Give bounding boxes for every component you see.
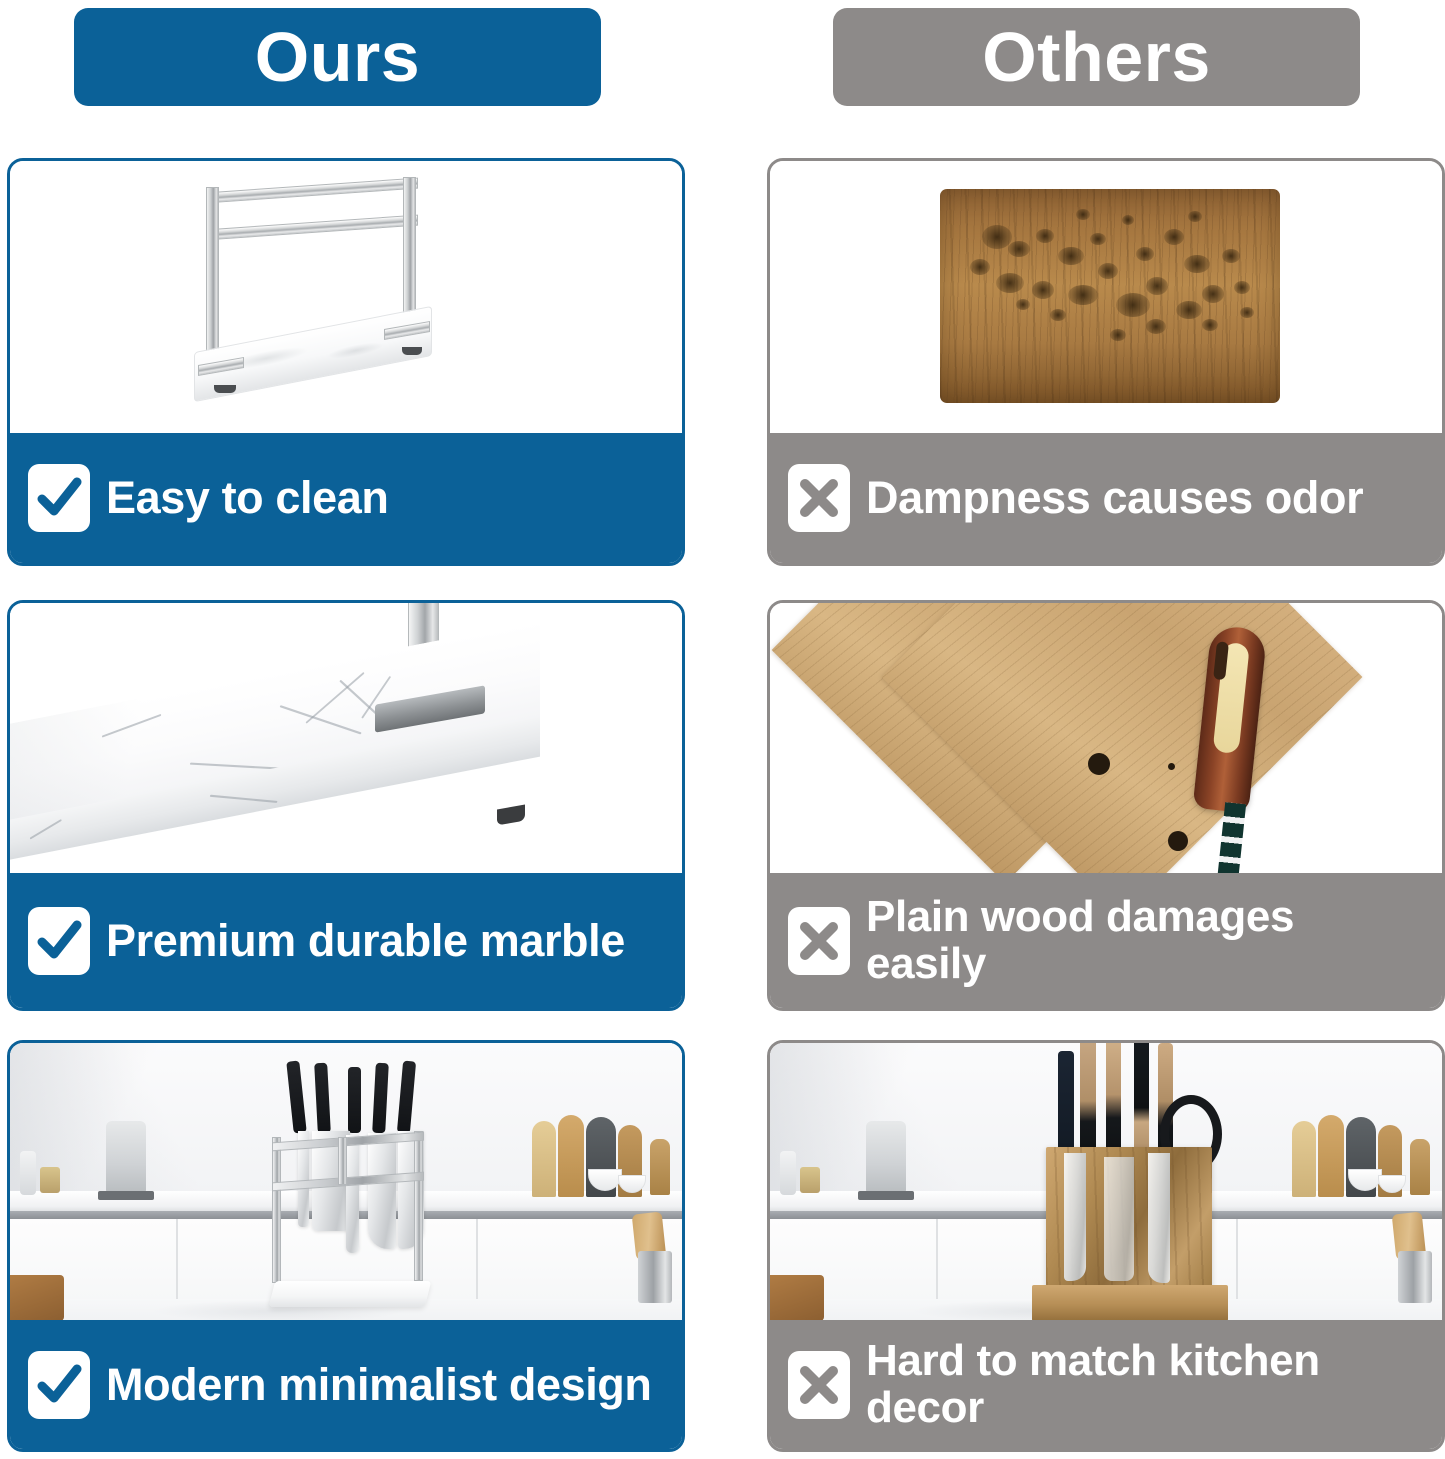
card-others-hard-to-match: Hard to match kitchen decor [767,1040,1445,1452]
wood-knife-block [1032,1147,1232,1320]
caption-text: Modern minimalist design [106,1361,651,1409]
card-others-wood-damages: Plain wood damages easily [767,600,1445,1011]
card-ours-premium-marble: Premium durable marble [7,600,685,1011]
knife-stand-in-kitchen [268,1061,458,1320]
wood-block-base [1032,1285,1228,1320]
check-icon [28,464,90,532]
card-ours-modern-design: Modern minimalist design [7,1040,685,1452]
marble-slab-illustration [10,603,682,873]
photo-moldy-cutting-board [770,161,1442,433]
cross-icon [788,464,850,532]
card-ours-easy-to-clean: Easy to clean [7,158,685,566]
caption-text: Dampness causes odor [866,474,1363,522]
rubber-foot [497,805,525,826]
caption-text: Hard to match kitchen decor [866,1338,1320,1431]
caption-text: Easy to clean [106,474,388,522]
column-ours: Easy to clean [7,0,707,1459]
card-others-dampness-odor: Dampness causes odor [767,158,1445,566]
check-icon [28,1351,90,1419]
caption-text: Plain wood damages easily [866,894,1294,987]
caption-ours-3: Modern minimalist design [10,1320,682,1449]
kitchen-scene-ours [10,1043,682,1320]
wood-boards-illustration [770,603,1442,873]
photo-knife-holder [10,161,682,433]
photo-kitchen-others [770,1043,1442,1320]
caption-others-2: Plain wood damages easily [770,873,1442,1008]
knife-holder-illustration [10,161,682,433]
comparison-infographic: Ours Others [0,0,1445,1459]
cross-icon [788,1351,850,1419]
check-icon [28,907,90,975]
photo-marble-base [10,603,682,873]
caption-others-1: Dampness causes odor [770,433,1442,563]
caption-ours-1: Easy to clean [10,433,682,563]
moldy-board-illustration [940,189,1280,403]
cross-icon [788,907,850,975]
caption-text: Premium durable marble [106,917,625,965]
caption-others-3: Hard to match kitchen decor [770,1320,1442,1449]
photo-kitchen-ours [10,1043,682,1320]
caption-ours-2: Premium durable marble [10,873,682,1008]
column-others: Dampness causes odor [767,0,1445,1459]
photo-plain-wood-boards [770,603,1442,873]
kitchen-scene-others [770,1043,1442,1320]
